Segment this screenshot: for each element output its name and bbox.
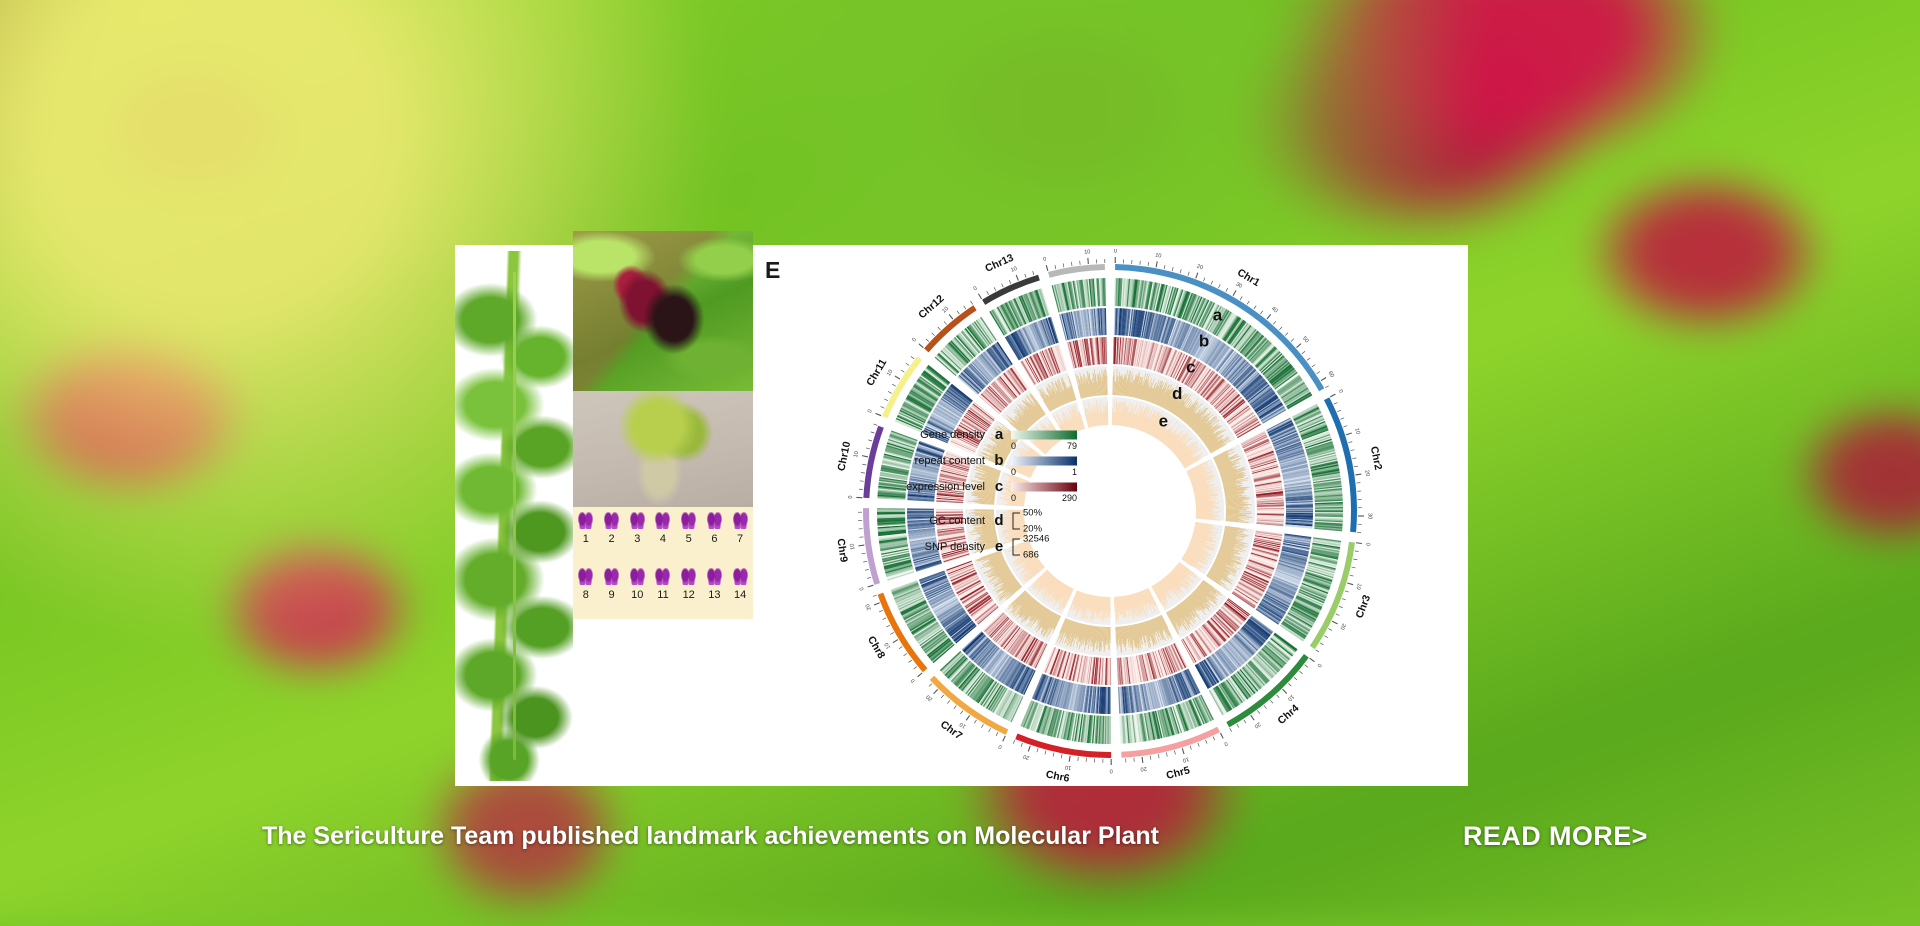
karyotype-number: 5 xyxy=(686,533,692,545)
track-a-cell xyxy=(877,508,905,510)
karyotype-number: 9 xyxy=(608,589,614,601)
figure-card: B C D E 1234567 891011121314 xyxy=(455,245,1468,786)
circos-rings xyxy=(863,264,1357,758)
karyotype-number: 8 xyxy=(583,589,589,601)
karyotype-cell-14: 14 xyxy=(727,563,753,619)
chromosome-band-9 xyxy=(604,568,619,585)
karyotype-cell-11: 11 xyxy=(650,563,676,619)
chromosome-band-5 xyxy=(681,512,696,529)
chromosome-band-1 xyxy=(578,512,593,529)
karyotype-cell-7: 7 xyxy=(727,507,753,563)
karyotype-cell-5: 5 xyxy=(676,507,702,563)
karyotype-number: 14 xyxy=(734,589,746,601)
karyotype-panel: 1234567 891011121314 xyxy=(573,507,753,619)
karyotype-number: 4 xyxy=(660,533,666,545)
karyotype-cell-6: 6 xyxy=(702,507,728,563)
karyotype-number: 12 xyxy=(683,589,695,601)
chromosome-band-7 xyxy=(733,512,748,529)
chromosome-band-13 xyxy=(707,568,722,585)
karyotype-cell-1: 1 xyxy=(573,507,599,563)
circos-svg: 0102030405060010203001020010200102001020… xyxy=(755,249,1465,782)
karyotype-cell-4: 4 xyxy=(650,507,676,563)
mulberry-fruit-photo xyxy=(573,231,753,391)
karyotype-number: 1 xyxy=(583,533,589,545)
karyotype-number: 11 xyxy=(657,589,668,601)
karyotype-cell-12: 12 xyxy=(676,563,702,619)
chromosome-band-14 xyxy=(733,568,748,585)
karyotype-cell-8: 8 xyxy=(573,563,599,619)
karyotype-number: 6 xyxy=(711,533,717,545)
mulberry-plant-photo xyxy=(455,251,573,781)
karyotype-number: 3 xyxy=(634,533,640,545)
track-b-cell xyxy=(907,508,934,509)
karyotype-cell-9: 9 xyxy=(599,563,625,619)
chromosome-band-6 xyxy=(707,512,722,529)
chromosome-band-2 xyxy=(604,512,619,529)
chromosome-band-12 xyxy=(681,568,696,585)
karyotype-cell-3: 3 xyxy=(624,507,650,563)
karyotype-cell-13: 13 xyxy=(702,563,728,619)
karyotype-row-2: 891011121314 xyxy=(573,563,753,619)
karyotype-number: 10 xyxy=(631,589,643,601)
chromosome-band-8 xyxy=(578,568,593,585)
track-c-cell xyxy=(936,509,963,510)
karyotype-cell-10: 10 xyxy=(624,563,650,619)
karyotype-number: 7 xyxy=(737,533,743,545)
chromosome-band-11 xyxy=(655,568,670,585)
karyotype-row-1: 1234567 xyxy=(573,507,753,563)
chromosome-band-10 xyxy=(630,568,645,585)
track-d-bar xyxy=(974,509,994,510)
mulberry-bud-photo xyxy=(573,391,753,507)
circos-genome-plot: 0102030405060010203001020010200102001020… xyxy=(755,249,1465,782)
karyotype-number: 2 xyxy=(608,533,614,545)
karyotype-cell-2: 2 xyxy=(599,507,625,563)
karyotype-number: 13 xyxy=(708,589,720,601)
chromosome-band-3 xyxy=(630,512,645,529)
chromosome-band-4 xyxy=(655,512,670,529)
